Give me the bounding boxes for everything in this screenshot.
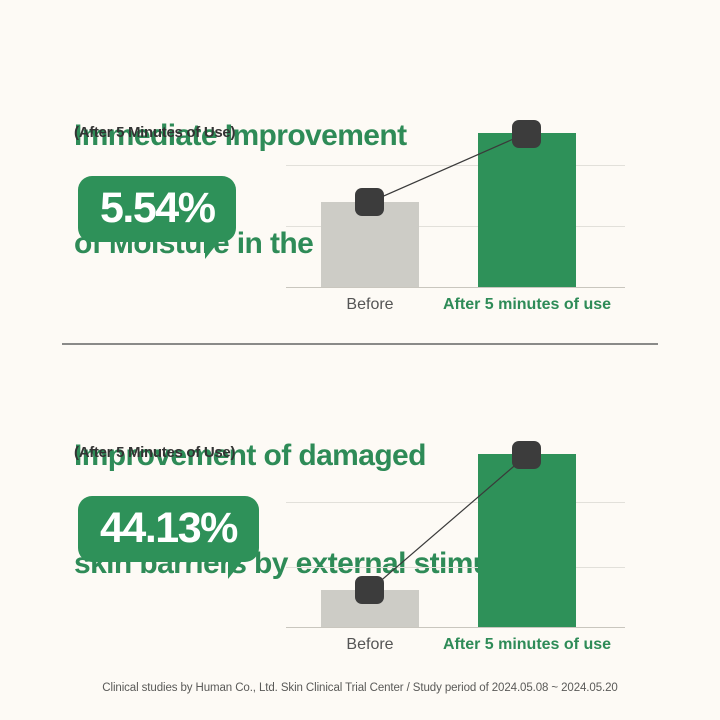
chart-axis-labels: Before After 5 minutes of use — [286, 628, 631, 658]
bubble-body: 44.13% — [78, 496, 259, 562]
callout-bubble-barrier: 44.13% — [78, 496, 259, 562]
bubble-tail-icon — [205, 240, 220, 259]
chart-moisture: Before After 5 minutes of use — [286, 120, 631, 320]
bar-after — [478, 133, 576, 287]
bar-after — [478, 454, 576, 627]
axis-label-after: After 5 minutes of use — [429, 636, 625, 654]
data-marker-after — [512, 441, 541, 469]
section-barrier-improvement: Improvement of damaged skin barriers by … — [0, 344, 720, 676]
callout-bubble-moisture: 5.54% — [78, 176, 236, 242]
subtitle-moisture: (After 5 Minutes of Use) — [74, 124, 235, 141]
data-marker-after — [512, 120, 541, 148]
chart-barrier: Before After 5 minutes of use — [286, 440, 631, 660]
data-marker-before — [355, 576, 384, 604]
bubble-body: 5.54% — [78, 176, 236, 242]
chart-plot-area — [286, 120, 631, 288]
section-moisture-improvement: Immediate Improvement of Moisture in the… — [0, 0, 720, 344]
bubble-value-barrier: 44.13% — [100, 505, 237, 551]
infographic-page: Immediate Improvement of Moisture in the… — [0, 0, 720, 720]
bubble-tail-icon — [228, 560, 243, 579]
axis-label-before: Before — [321, 296, 419, 314]
subtitle-barrier: (After 5 Minutes of Use) — [74, 444, 235, 461]
footer-disclaimer: Clinical studies by Human Co., Ltd. Skin… — [0, 682, 720, 694]
bubble-value-moisture: 5.54% — [100, 185, 214, 231]
axis-label-after: After 5 minutes of use — [429, 296, 625, 314]
chart-plot-area — [286, 440, 631, 628]
chart-axis-labels: Before After 5 minutes of use — [286, 288, 631, 318]
axis-label-before: Before — [321, 636, 419, 654]
data-marker-before — [355, 188, 384, 216]
